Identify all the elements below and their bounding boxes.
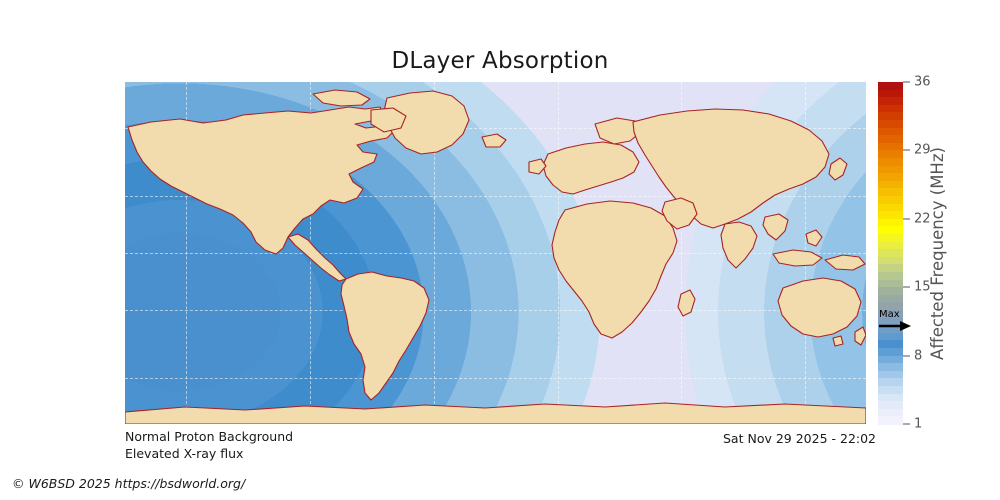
landmass-antarctica xyxy=(125,403,866,424)
colorbar-tick-mark xyxy=(903,218,910,219)
landmass-indonesia xyxy=(773,250,822,266)
colorbar-tick-mark xyxy=(903,424,910,425)
colorbar-segment xyxy=(878,416,903,424)
colorbar[interactable] xyxy=(878,82,903,424)
colorbar-tick-mark xyxy=(903,82,910,83)
note-proton-background: Normal Proton Background xyxy=(125,429,293,446)
colorbar-gradient-strip xyxy=(878,82,903,424)
colorbar-tick-mark xyxy=(903,287,910,288)
landmass-new-zealand xyxy=(855,327,866,345)
landmass-central-america xyxy=(288,234,346,281)
landmass-british-isles xyxy=(529,159,546,174)
landmass-north-america xyxy=(128,107,395,254)
landmass-south-america xyxy=(341,272,429,400)
colorbar-tick-mark xyxy=(903,355,910,356)
landmass-australia xyxy=(778,278,861,337)
land-coastline-layer xyxy=(125,82,866,424)
landmass-new-guinea xyxy=(825,255,865,270)
status-notes: Normal Proton Background Elevated X-ray … xyxy=(125,429,293,462)
colorbar-tick: 1 xyxy=(903,417,922,432)
landmass-europe xyxy=(543,142,639,194)
colorbar-tick-value: 1 xyxy=(914,417,922,432)
landmass-tasmania xyxy=(833,336,843,346)
copyright-notice: © W6BSD 2025 https://bsdworld.org/ xyxy=(12,476,245,491)
landmass-india xyxy=(721,222,757,268)
colorbar-tick: 8 xyxy=(903,348,922,363)
landmass-philippines xyxy=(806,230,822,246)
landmass-japan xyxy=(829,158,847,180)
world-map-axes[interactable] xyxy=(125,82,866,424)
landmass-africa xyxy=(552,201,677,338)
landmass-southeast-asia xyxy=(763,214,788,240)
colorbar-tick-value: 8 xyxy=(914,348,922,363)
dlayer-absorption-chart: DLayer Absorption xyxy=(0,0,1000,500)
landmass-madagascar xyxy=(678,290,695,316)
landmass-iceland xyxy=(482,134,506,147)
page-title: DLayer Absorption xyxy=(0,48,1000,74)
colorbar-tick-mark xyxy=(903,150,910,151)
timestamp: Sat Nov 29 2025 - 22:02 xyxy=(723,431,876,446)
landmass-arctic-islands xyxy=(313,90,370,106)
colorbar-axis-label: Affected Frequency (MHz) xyxy=(924,82,950,424)
note-xray-flux: Elevated X-ray flux xyxy=(125,446,293,463)
